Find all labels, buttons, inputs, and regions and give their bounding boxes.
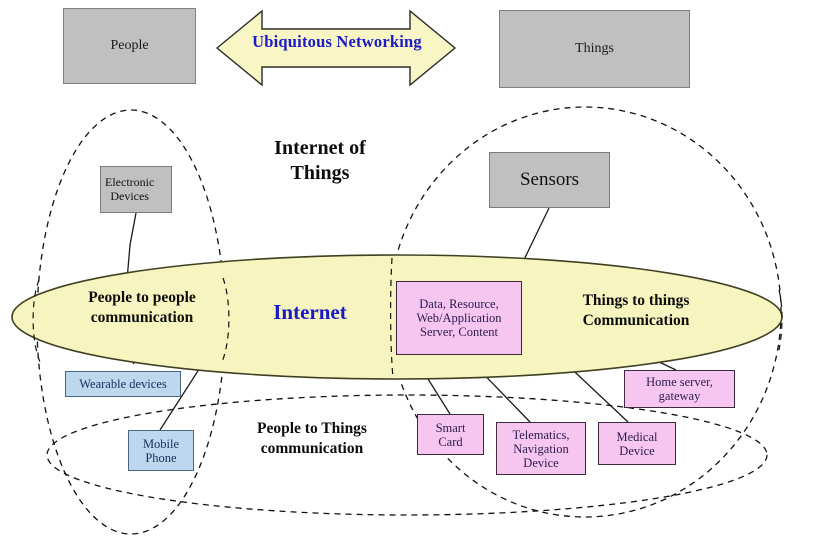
sensors-box: Sensors [489,152,610,208]
sensors-label: Sensors [520,169,579,190]
smart-card-label: SmartCard [436,421,466,449]
people-to-people-label: People to peoplecommunication [56,288,228,328]
ubiquitous-networking-label: Ubiquitous Networking [217,32,457,52]
mobile-phone-label: MobilePhone [143,437,179,465]
internet-of-things-title: Internet ofThings [228,136,412,186]
things-to-things-label: Things to thingsCommunication [546,291,726,331]
people-to-things-label: People to Thingscommunication [222,419,402,459]
medical-device-box: MedicalDevice [598,422,676,465]
wearable-devices-label: Wearable devices [79,377,166,391]
mobile-phone-box: MobilePhone [128,430,194,471]
telematics-navigation-device-box: Telematics,NavigationDevice [496,422,586,475]
wearable-devices-box: Wearable devices [65,371,181,397]
people-box-label: People [110,38,148,54]
things-box: Things [499,10,690,88]
things-box-label: Things [575,41,614,57]
iot-diagram-canvas: People Things Ubiquitous Networking Inte… [0,0,813,545]
electronic-devices-label: ElectronicDevices [105,176,154,203]
home-server-gateway-label: Home server,gateway [646,375,713,403]
electronic-devices-box: ElectronicDevices [100,166,172,213]
internet-label: Internet [245,300,375,325]
smart-card-box: SmartCard [417,414,484,455]
telematics-navigation-device-label: Telematics,NavigationDevice [512,428,569,470]
data-resource-server-label: Data, Resource,Web/ApplicationServer, Co… [416,297,501,339]
data-resource-server-box: Data, Resource,Web/ApplicationServer, Co… [396,281,522,355]
home-server-gateway-box: Home server,gateway [624,370,735,408]
medical-device-label: MedicalDevice [617,430,658,458]
people-box: People [63,8,196,84]
